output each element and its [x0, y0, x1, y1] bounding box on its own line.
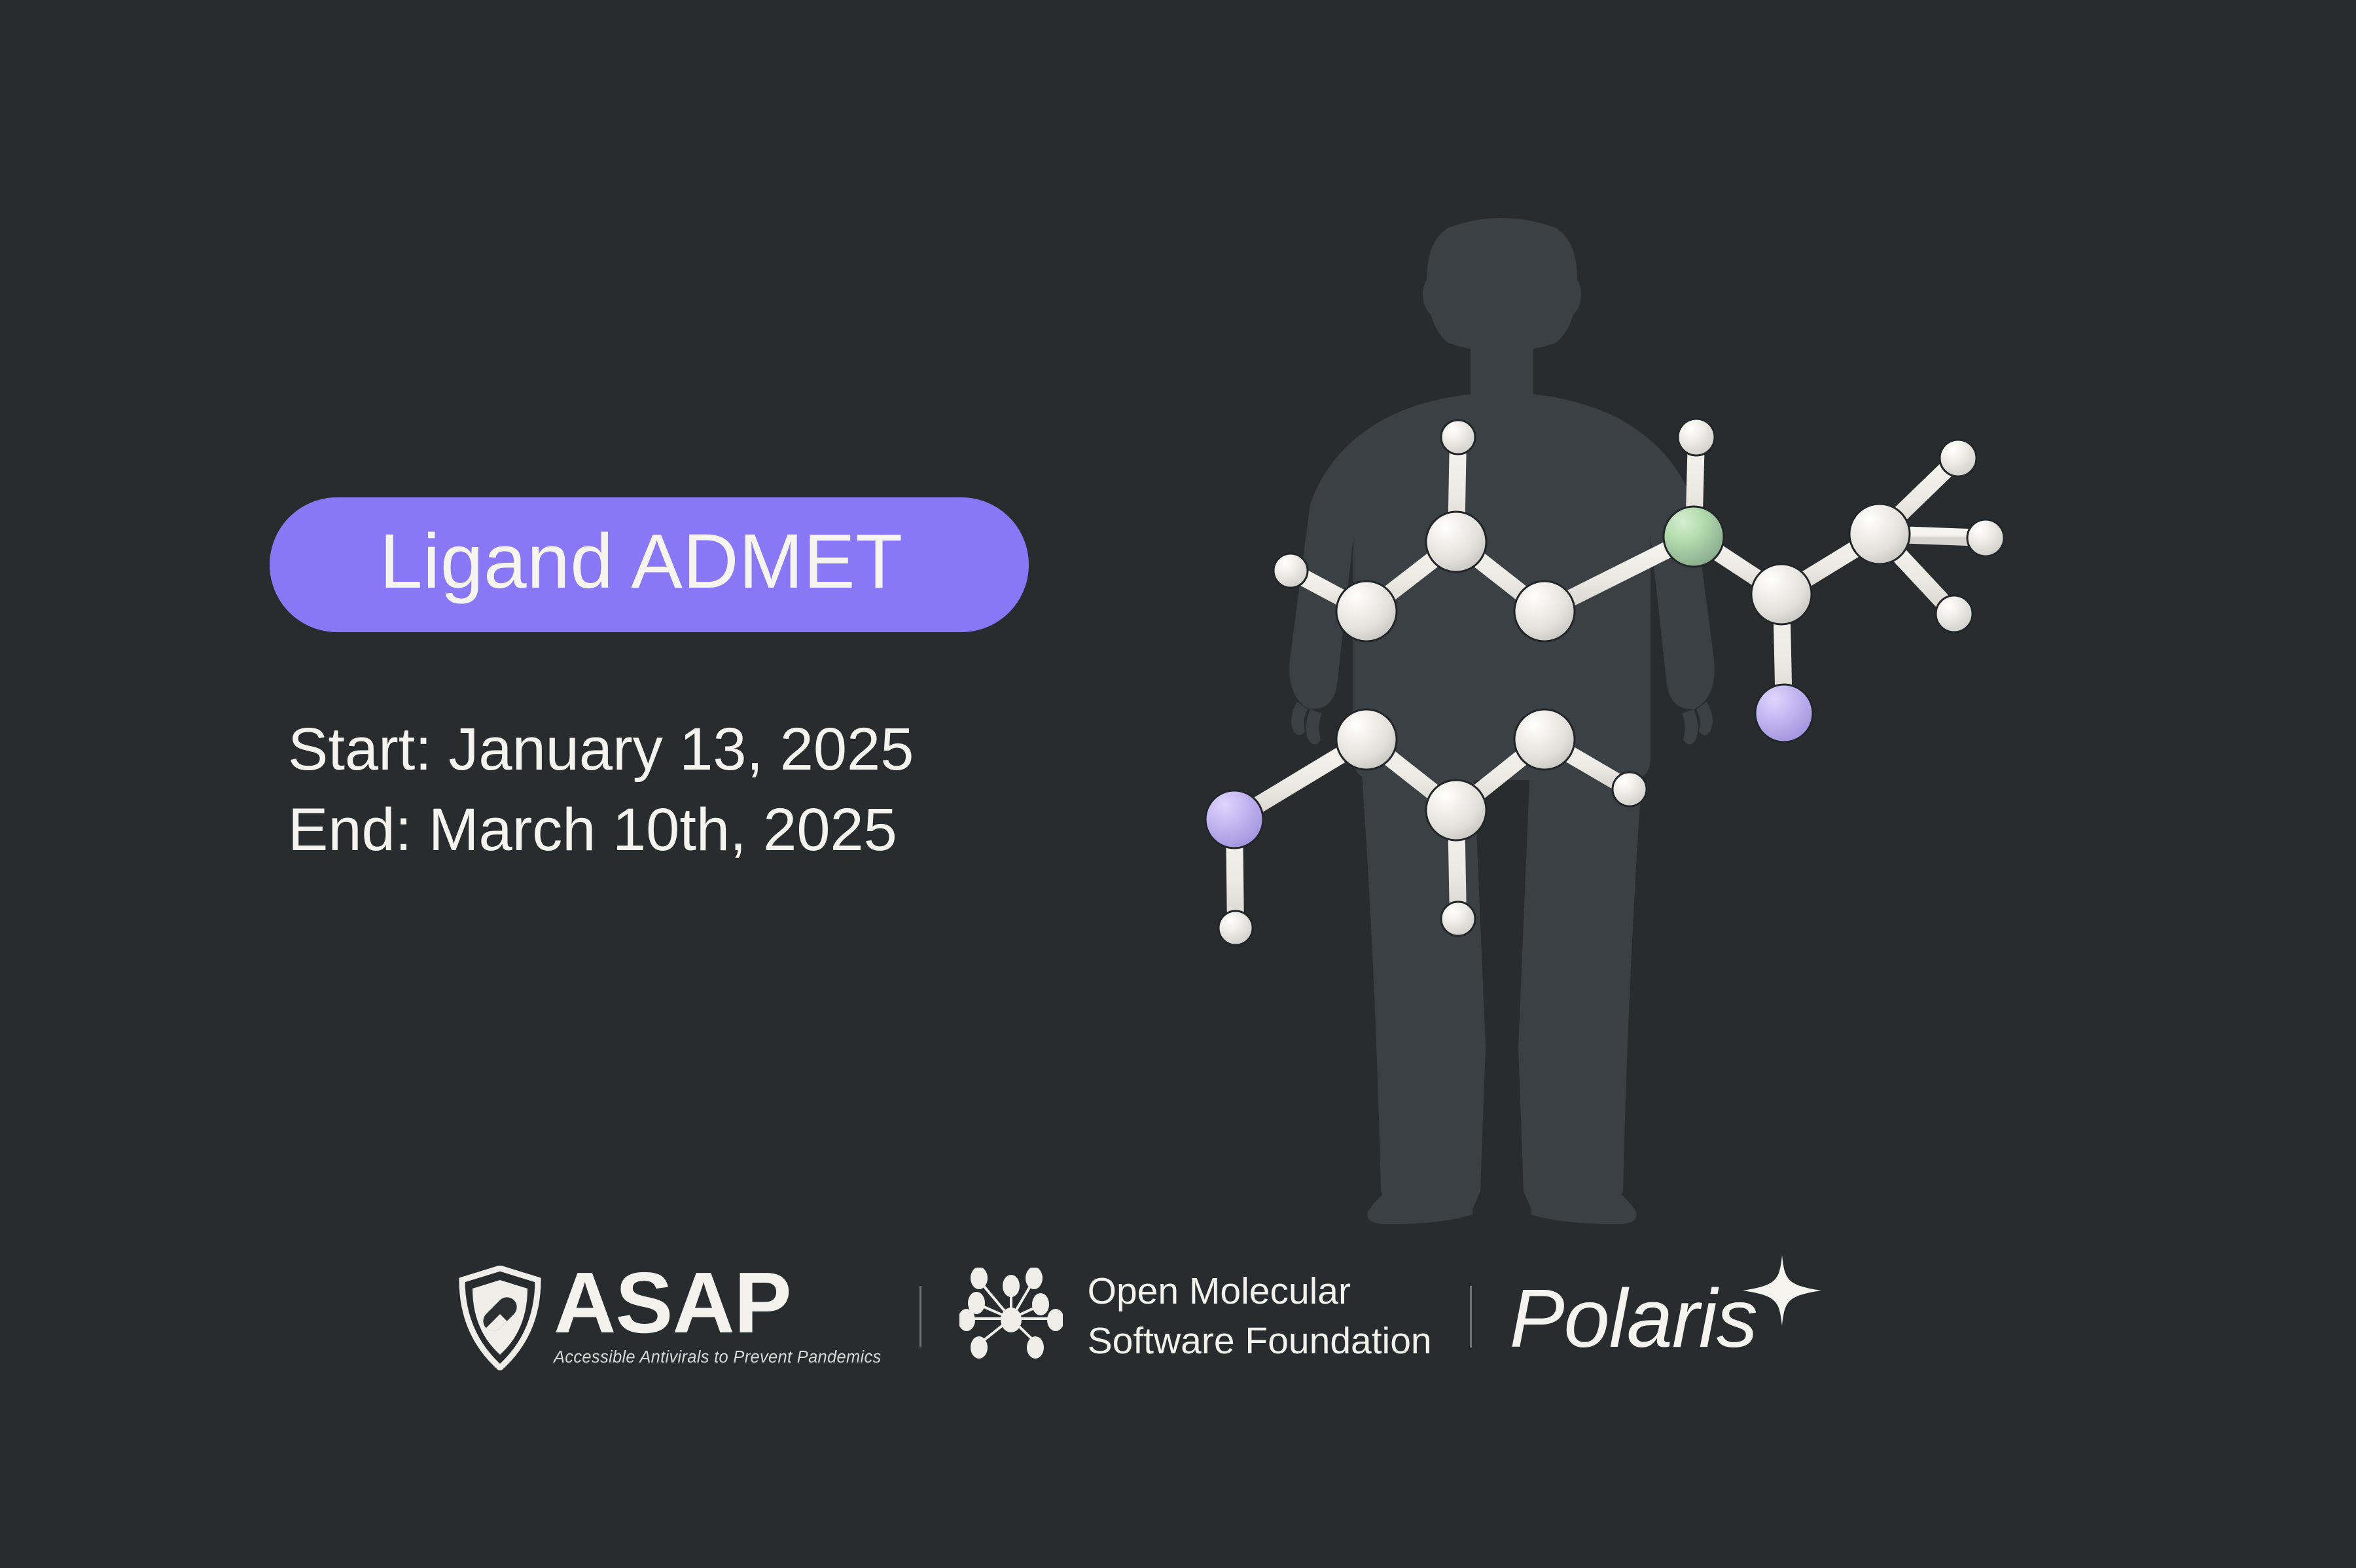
hero-text-block: Ligand ADMET Start: January 13, 2025 End…: [270, 497, 1120, 870]
atom-nitrogen: [1755, 685, 1813, 742]
atom-nitrogen: [1205, 791, 1263, 848]
atom-hydrogen: [1936, 596, 1972, 632]
atom-hydrogen: [1441, 902, 1475, 936]
atom-hydrogen: [1441, 420, 1475, 454]
omsf-line-2: Software Foundation: [1088, 1317, 1432, 1366]
atom-carbon: [1336, 709, 1397, 770]
atom-hydrogen: [1678, 419, 1715, 455]
sparkle-star-icon: [1740, 1253, 1824, 1336]
polaris-logo[interactable]: Polaris: [1510, 1274, 1757, 1360]
polaris-wordmark: Polaris: [1510, 1277, 1757, 1360]
dates-block: Start: January 13, 2025 End: March 10th,…: [288, 709, 1120, 870]
atom-hydrogen: [1274, 554, 1308, 588]
atom-oxygen: [1664, 507, 1724, 567]
asap-logo[interactable]: ASAP Accessible Antivirals to Prevent Pa…: [458, 1263, 882, 1370]
atom-carbon: [1514, 581, 1575, 641]
atom-hydrogen: [1967, 520, 2004, 556]
atom-hydrogen: [1940, 440, 1976, 476]
footer-divider: [1470, 1286, 1472, 1347]
molecular-network-icon: [959, 1268, 1063, 1366]
atom-carbon: [1514, 709, 1575, 770]
atom-carbon: [1751, 564, 1812, 624]
footer-logo-row: ASAP Accessible Antivirals to Prevent Pa…: [458, 1263, 1963, 1433]
atom-carbon: [1849, 504, 1910, 564]
atom-hydrogen: [1613, 772, 1647, 806]
omsf-logo[interactable]: Open Molecular Software Foundation: [959, 1267, 1432, 1366]
shield-pill-icon: [458, 1266, 542, 1370]
atom-carbon: [1426, 512, 1486, 572]
title-badge-label: Ligand ADMET: [380, 522, 958, 601]
atom-hydrogen: [1219, 911, 1253, 945]
title-badge[interactable]: Ligand ADMET: [270, 497, 1029, 632]
asap-tagline: Accessible Antivirals to Prevent Pandemi…: [554, 1348, 882, 1367]
molecule-illustration: [1145, 196, 2258, 1256]
omsf-line-1: Open Molecular: [1088, 1267, 1432, 1317]
poster-canvas: Ligand ADMET Start: January 13, 2025 End…: [0, 0, 2356, 1568]
atom-carbon: [1426, 780, 1486, 840]
end-date-line: End: March 10th, 2025: [288, 790, 1120, 870]
footer-divider: [919, 1286, 921, 1347]
asap-wordmark: ASAP: [554, 1263, 882, 1342]
atom-carbon: [1336, 581, 1397, 641]
start-date-line: Start: January 13, 2025: [288, 709, 1120, 789]
